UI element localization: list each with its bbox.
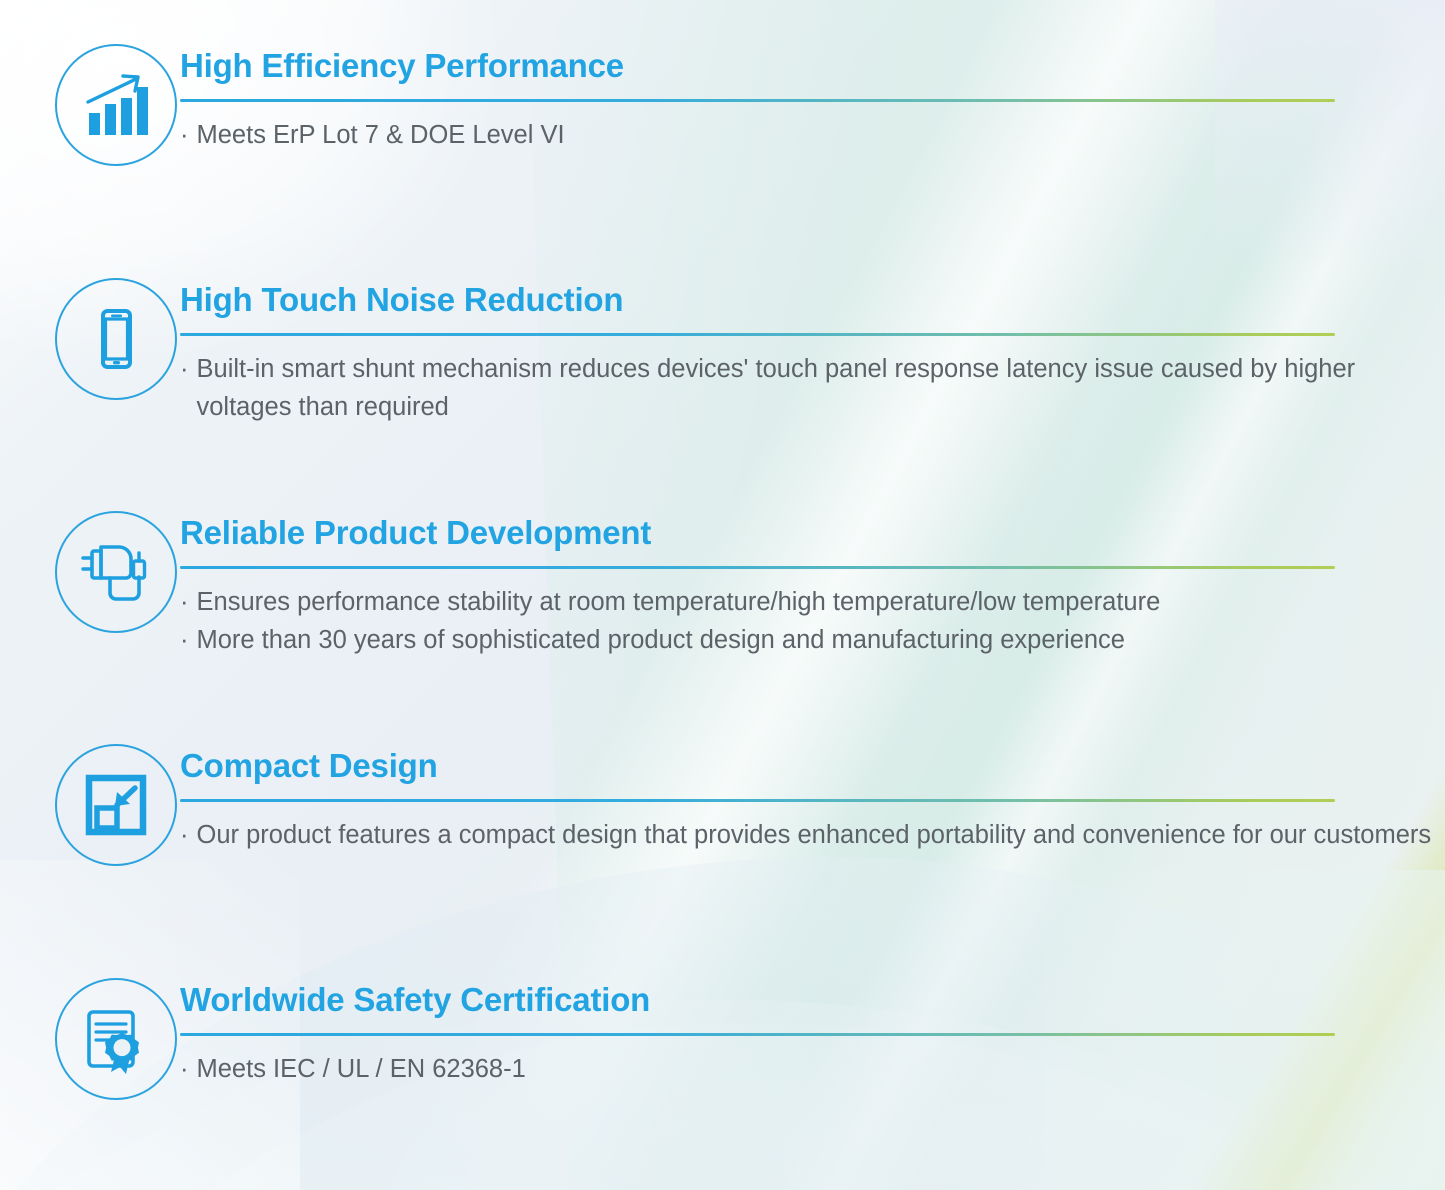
feature-item-high-touch-noise-reduction: High Touch Noise Reduction · Built-in sm… (52, 276, 1445, 426)
feature-divider (180, 566, 1335, 569)
feature-title: Compact Design (180, 748, 1431, 785)
list-item: · Meets ErP Lot 7 & DOE Level VI (180, 117, 1335, 155)
power-adapter-icon (77, 533, 155, 611)
list-item: · Meets IEC / UL / EN 62368-1 (180, 1051, 1335, 1089)
feature-title: Worldwide Safety Certification (180, 982, 1335, 1019)
feature-title: High Efficiency Performance (180, 48, 1335, 85)
bullet-text: More than 30 years of sophisticated prod… (197, 622, 1336, 660)
feature-divider (180, 1033, 1335, 1036)
feature-bullet-list: · Meets IEC / UL / EN 62368-1 (180, 1051, 1335, 1089)
bullet-marker: · (180, 817, 189, 855)
icon-circle-frame (55, 511, 177, 633)
bullet-marker: · (180, 1051, 189, 1089)
feature-item-worldwide-safety-certification: Worldwide Safety Certification · Meets I… (52, 976, 1335, 1100)
icon-circle-frame (55, 978, 177, 1100)
bullet-marker: · (180, 622, 189, 660)
feature-icon-container (52, 976, 180, 1100)
certificate-award-icon (81, 1004, 151, 1074)
feature-body: Compact Design · Our product features a … (180, 742, 1431, 855)
feature-list-page: High Efficiency Performance · Meets ErP … (0, 0, 1445, 1190)
icon-circle-frame (55, 744, 177, 866)
feature-divider (180, 799, 1335, 802)
bar-chart-growth-icon (79, 68, 153, 142)
smartphone-icon (81, 304, 151, 374)
list-item: · Ensures performance stability at room … (180, 584, 1335, 622)
feature-item-high-efficiency-performance: High Efficiency Performance · Meets ErP … (52, 42, 1335, 166)
list-item: · More than 30 years of sophisticated pr… (180, 622, 1335, 660)
bullet-text: Ensures performance stability at room te… (197, 584, 1336, 622)
feature-bullet-list: · Built-in smart shunt mechanism reduces… (180, 351, 1445, 426)
feature-icon-container (52, 509, 180, 633)
feature-body: High Touch Noise Reduction · Built-in sm… (180, 276, 1445, 426)
feature-body: High Efficiency Performance · Meets ErP … (180, 42, 1335, 155)
feature-divider (180, 333, 1335, 336)
icon-circle-frame (55, 278, 177, 400)
compact-resize-icon (83, 772, 149, 838)
list-item: · Our product features a compact design … (180, 817, 1431, 855)
bullet-text: Our product features a compact design th… (197, 817, 1432, 855)
feature-icon-container (52, 742, 180, 866)
bullet-marker: · (180, 117, 189, 155)
feature-divider (180, 99, 1335, 102)
feature-bullet-list: · Our product features a compact design … (180, 817, 1431, 855)
icon-circle-frame (55, 44, 177, 166)
feature-title: Reliable Product Development (180, 515, 1335, 552)
feature-item-reliable-product-development: Reliable Product Development · Ensures p… (52, 509, 1335, 659)
feature-bullet-list: · Meets ErP Lot 7 & DOE Level VI (180, 117, 1335, 155)
feature-icon-container (52, 276, 180, 400)
feature-icon-container (52, 42, 180, 166)
list-item: · Built-in smart shunt mechanism reduces… (180, 351, 1445, 426)
feature-bullet-list: · Ensures performance stability at room … (180, 584, 1335, 659)
feature-body: Worldwide Safety Certification · Meets I… (180, 976, 1335, 1089)
bullet-marker: · (180, 351, 189, 389)
feature-title: High Touch Noise Reduction (180, 282, 1445, 319)
bullet-marker: · (180, 584, 189, 622)
bullet-text: Built-in smart shunt mechanism reduces d… (197, 351, 1445, 426)
bullet-text: Meets ErP Lot 7 & DOE Level VI (197, 117, 1336, 155)
bullet-text: Meets IEC / UL / EN 62368-1 (197, 1051, 1336, 1089)
feature-body: Reliable Product Development · Ensures p… (180, 509, 1335, 659)
feature-item-compact-design: Compact Design · Our product features a … (52, 742, 1431, 866)
